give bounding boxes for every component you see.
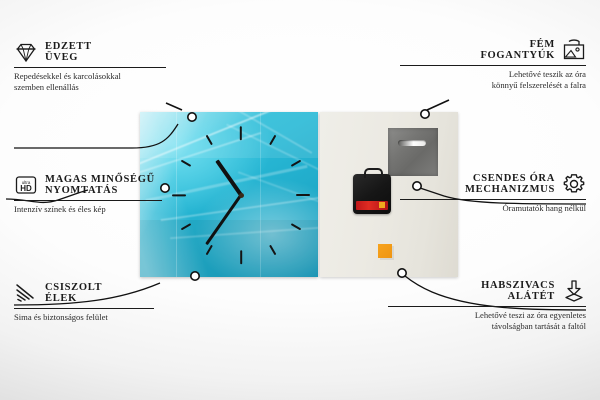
clock-tick: [181, 223, 192, 230]
callout-rule: [14, 200, 162, 201]
polished-edges-icon: [14, 281, 38, 305]
metal-hanger-plate: [388, 128, 438, 176]
callout-subtitle: Óramutatók hang nélkül: [400, 203, 586, 214]
callout-tempered-glass: EDZETT ÜVEG Repedésekkel és karcolásokka…: [14, 40, 192, 92]
clock-tick: [240, 250, 242, 264]
clock-tick: [206, 245, 213, 256]
callout-high-quality-print: ultra HD MAGAS MINŐSÉGŰ NYOMTATÁS Intenz…: [14, 173, 186, 215]
clock-tick: [181, 160, 192, 167]
callout-head: CSISZOLT ÉLEK: [14, 281, 178, 305]
wire-glass: [166, 103, 182, 110]
clock-tick: [296, 194, 310, 196]
callout-subtitle: Sima és biztonságos felület: [14, 312, 178, 323]
callout-silent-mechanism: CSENDES ÓRA MECHANIZMUS Óramutatók hang …: [400, 172, 586, 214]
callout-rule: [388, 306, 586, 307]
callout-title: FÉM FOGANTYÚK: [480, 39, 555, 62]
battery-terminal: [379, 202, 385, 208]
wire-handle: [427, 100, 449, 110]
callout-rule: [14, 67, 166, 68]
clock-tick: [269, 245, 276, 256]
ultra-hd-icon: ultra HD: [14, 173, 38, 197]
clock-center-hub: [239, 193, 244, 198]
callout-title: CSENDES ÓRA MECHANIZMUS: [465, 173, 555, 196]
callout-subtitle: Lehetővé teszik az óra könnyű felszerelé…: [400, 69, 586, 90]
gear-icon: [562, 172, 586, 196]
diamond-icon: [14, 40, 38, 64]
callout-foam-pad: HABSZIVACS ALÁTÉT Lehetővé teszi az óra …: [388, 279, 586, 331]
mechanism-shaft: [364, 168, 383, 178]
callout-head: CSENDES ÓRA MECHANIZMUS: [400, 172, 586, 196]
callout-subtitle: Intenzív színek és éles kép: [14, 204, 186, 215]
svg-text:HD: HD: [20, 184, 32, 193]
foam-pad: [378, 244, 392, 258]
callout-head: ultra HD MAGAS MINŐSÉGŰ NYOMTATÁS: [14, 173, 186, 197]
callout-head: FÉM FOGANTYÚK: [400, 38, 586, 62]
clock-minute-hand: [206, 194, 243, 245]
clock-tick: [206, 135, 213, 146]
callout-rule: [400, 65, 586, 66]
callout-title: CSISZOLT ÉLEK: [45, 282, 102, 305]
callout-rule: [14, 308, 154, 309]
callout-head: EDZETT ÜVEG: [14, 40, 192, 64]
callout-polished-edges: CSISZOLT ÉLEK Sima és biztonságos felüle…: [14, 281, 178, 323]
callout-subtitle: Lehetővé teszi az óra egyenletes távolsá…: [388, 310, 586, 331]
clock-tick: [291, 223, 302, 230]
clock-mechanism: [353, 174, 391, 214]
infographic-canvas: EDZETT ÜVEG Repedésekkel és karcolásokka…: [0, 0, 600, 400]
clock-dial: [166, 120, 316, 270]
picture-hanger-icon: [562, 38, 586, 62]
foam-pad-arrow-icon: [562, 279, 586, 303]
callout-metal-handles: FÉM FOGANTYÚK Lehetővé teszik az óra kön…: [400, 38, 586, 90]
hanger-slot: [398, 140, 426, 146]
clock-tick: [291, 160, 302, 167]
clock-tick: [269, 135, 276, 146]
callout-title: EDZETT ÜVEG: [45, 41, 92, 64]
callout-title: HABSZIVACS ALÁTÉT: [481, 280, 555, 303]
callout-rule: [400, 199, 586, 200]
callout-title: MAGAS MINŐSÉGŰ NYOMTATÁS: [45, 174, 155, 197]
clock-tick: [240, 126, 242, 140]
clock-hour-hand: [215, 159, 242, 196]
battery: [356, 201, 388, 210]
callout-subtitle: Repedésekkel és karcolásokkal szemben el…: [14, 71, 192, 92]
callout-head: HABSZIVACS ALÁTÉT: [388, 279, 586, 303]
